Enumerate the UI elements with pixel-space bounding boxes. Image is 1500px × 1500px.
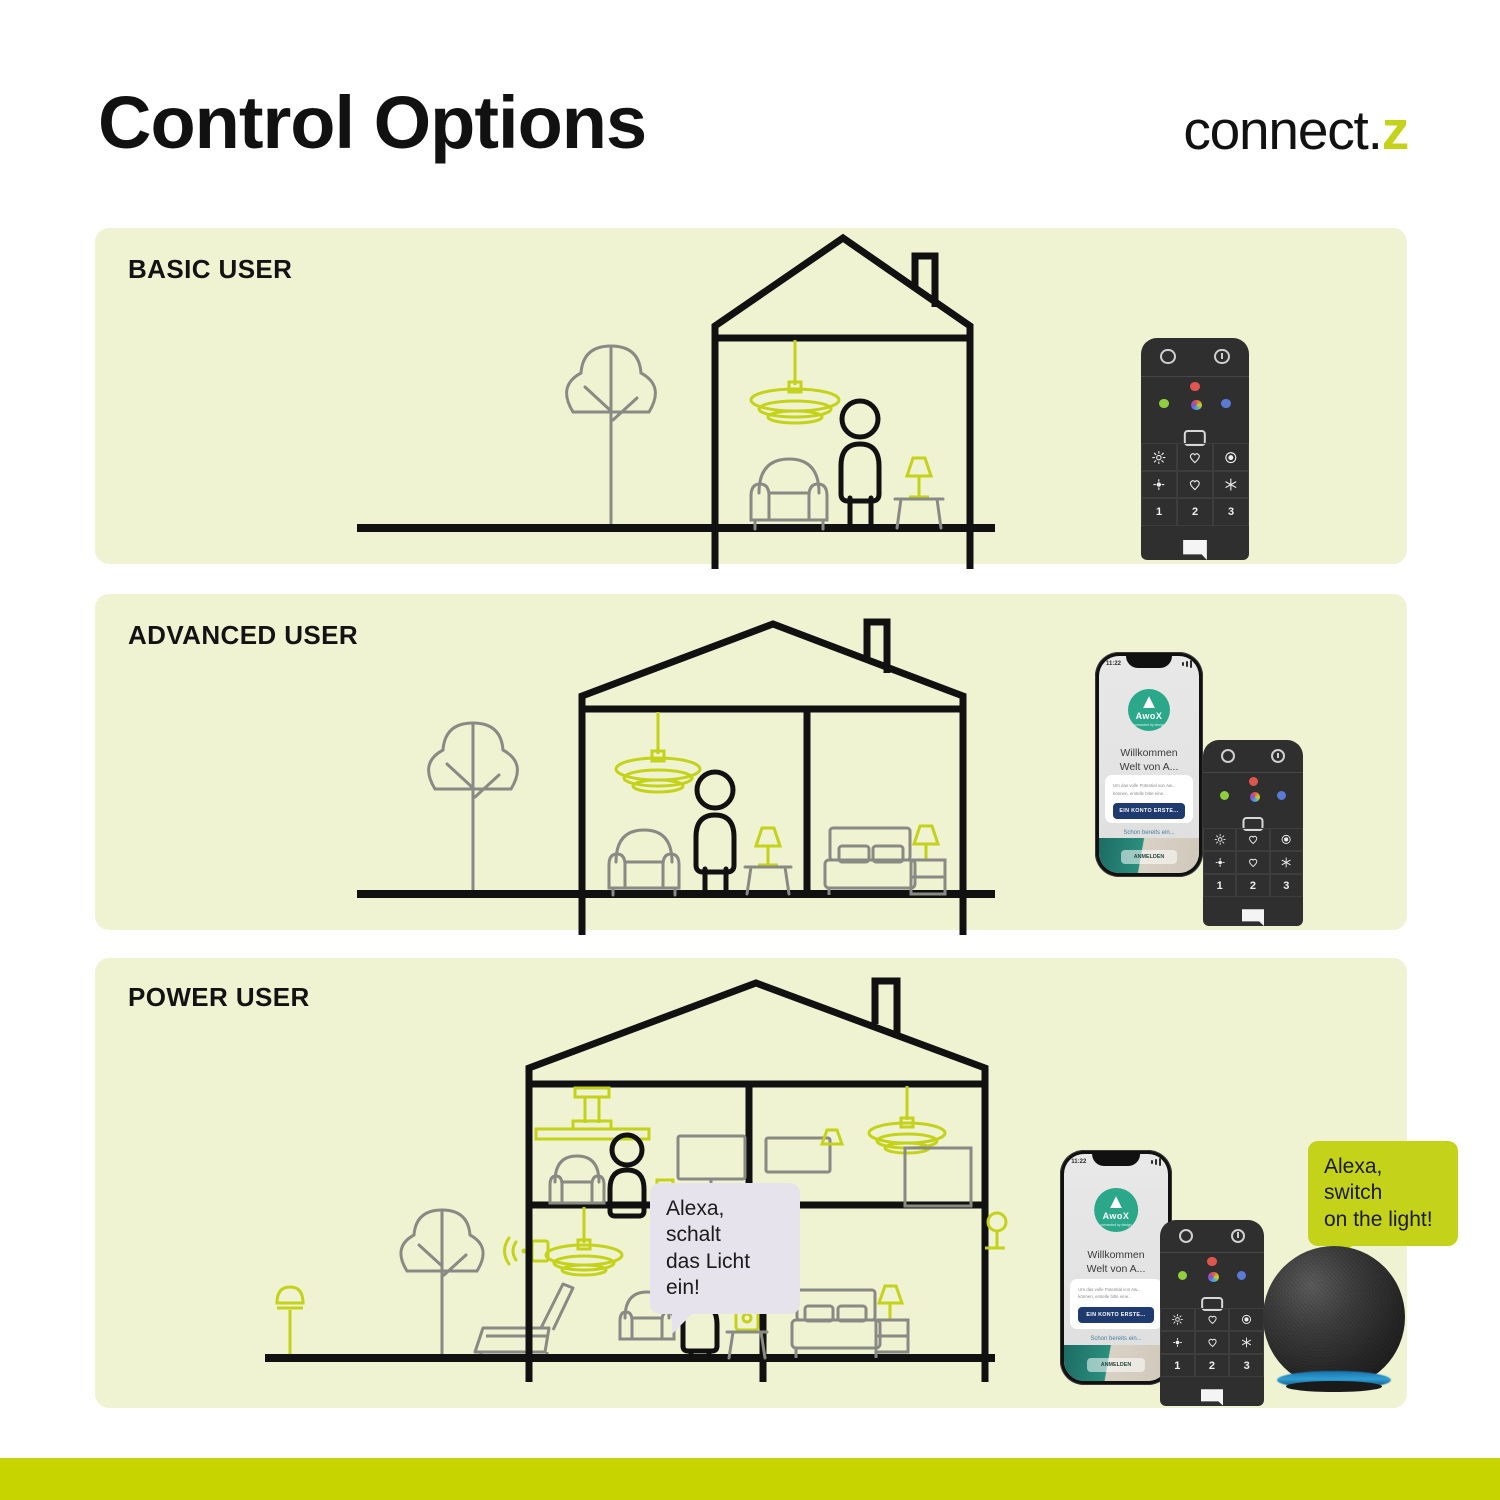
scene-2-button[interactable]: 2	[1195, 1354, 1230, 1377]
awox-logo-name: AwoX	[1103, 1211, 1130, 1221]
awox-logo: ▲ AwoX connected by design	[1128, 689, 1170, 731]
signup-card: Um das volle Potential von Aw... können,…	[1105, 775, 1193, 823]
infographic-page: Control Options connect.z BASIC USER	[0, 0, 1500, 1500]
awox-logo: ▲ AwoX connected by design	[1094, 1188, 1138, 1232]
favorite-1-icon[interactable]	[1236, 828, 1269, 851]
power-on-button[interactable]	[1231, 1229, 1246, 1244]
existing-account-link[interactable]: Schon bereits ein...	[1064, 1336, 1168, 1342]
power-on-button[interactable]	[1271, 749, 1285, 763]
create-account-button[interactable]: EIN KONTO ERSTE...	[1113, 803, 1185, 819]
bed-icon	[825, 828, 915, 895]
remote-bottom-row	[1203, 896, 1303, 926]
panel-advanced-user: ADVANCED USER	[95, 594, 1407, 930]
smartphone-app[interactable]: 11:22 ▲ AwoX connected by design Willkom…	[1060, 1150, 1172, 1385]
circle-off-button[interactable]	[1179, 1229, 1194, 1244]
side-table-icon	[895, 499, 943, 528]
bedroom-lamp-icon	[822, 1130, 842, 1144]
smartphone-app[interactable]: 11:22 ▲ AwoX connected by design Willkom…	[1095, 652, 1203, 877]
echo-fabric-texture	[1263, 1246, 1405, 1388]
status-time: 11:22	[1106, 661, 1121, 667]
armchair-icon	[751, 459, 827, 529]
awox-logo-tagline: connected by design	[1100, 1223, 1131, 1227]
phone-screen: 11:22 ▲ AwoX connected by design Willkom…	[1064, 1154, 1168, 1381]
blue-color-dot[interactable]	[1277, 791, 1286, 800]
sign-in-button[interactable]: ANMELDEN	[1121, 850, 1177, 864]
multicolor-dot[interactable]	[1207, 1271, 1219, 1283]
card-hint-2: können, erstelle bitte eine...	[1078, 1293, 1154, 1300]
panel-basic-user: BASIC USER	[95, 228, 1407, 564]
signup-card: Um das volle Potential von Aw... können,…	[1070, 1279, 1162, 1329]
remote-top-row	[1141, 338, 1249, 377]
multicolor-dot[interactable]	[1190, 399, 1203, 412]
brightness-up-icon[interactable]	[1141, 443, 1177, 470]
cool-white-icon[interactable]	[1270, 851, 1303, 874]
favorite-1-icon[interactable]	[1195, 1308, 1230, 1331]
create-account-button[interactable]: EIN KONTO ERSTE...	[1078, 1307, 1154, 1323]
status-signal-icons	[1182, 660, 1192, 668]
scene-3-button[interactable]: 3	[1229, 1354, 1264, 1377]
green-color-dot[interactable]	[1220, 791, 1229, 800]
status-signal-icons	[1151, 1158, 1161, 1166]
echo-speaker[interactable]	[1263, 1246, 1405, 1388]
favorite-2-icon[interactable]	[1177, 471, 1213, 498]
remote-color-dots	[1160, 1252, 1264, 1293]
scene-1-button[interactable]: 1	[1203, 874, 1236, 897]
favorite-2-icon[interactable]	[1195, 1331, 1230, 1354]
scene-flag-icon[interactable]	[1242, 909, 1264, 926]
bed-icon	[766, 1138, 830, 1172]
welcome-line-1: Willkommen	[1070, 1249, 1162, 1263]
side-table-icon	[745, 867, 791, 894]
footer-accent-band	[0, 1458, 1500, 1500]
bedroom-lamp-icon	[879, 1286, 902, 1320]
scene-1-button[interactable]: 1	[1141, 498, 1177, 525]
scene-flag-icon[interactable]	[1183, 540, 1207, 560]
existing-account-link[interactable]: Schon bereits ein...	[1099, 830, 1199, 836]
armchair-icon	[550, 1156, 604, 1203]
sign-in-button[interactable]: ANMELDEN	[1087, 1358, 1145, 1372]
card-hint-1: Um das volle Potential von Aw...	[1078, 1286, 1154, 1293]
scene-2-button[interactable]: 2	[1177, 498, 1213, 525]
green-color-dot[interactable]	[1159, 399, 1169, 409]
pendant-lamp-icon	[751, 340, 839, 423]
status-time: 11:22	[1071, 1159, 1086, 1165]
tree-icon	[567, 346, 656, 526]
pendant-lamp-icon	[869, 1086, 945, 1153]
table-lamp-icon	[907, 458, 931, 497]
welcome-line-2: Welt von A...	[1105, 761, 1193, 775]
speech-bubble-english: Alexa, switch on the light!	[1308, 1141, 1458, 1246]
brightness-down-icon[interactable]	[1141, 471, 1177, 498]
scene-2-button[interactable]: 2	[1236, 874, 1269, 897]
brightness-up-icon[interactable]	[1160, 1308, 1195, 1331]
red-color-dot[interactable]	[1207, 1257, 1216, 1266]
brand-logo-accent: z	[1382, 99, 1408, 161]
red-color-dot[interactable]	[1249, 777, 1258, 786]
cool-white-icon[interactable]	[1229, 1331, 1264, 1354]
phone-status-bar: 11:22	[1099, 659, 1199, 668]
ceiling-fan-icon	[536, 1088, 649, 1139]
remote-control[interactable]: 1 2 3	[1160, 1220, 1264, 1406]
page-title: Control Options	[98, 86, 646, 160]
card-hint-1: Um das volle Potential von Aw...	[1113, 782, 1185, 789]
remote-button-grid: 1 2 3	[1203, 828, 1303, 897]
phone-status-bar: 11:22	[1064, 1157, 1168, 1166]
brand-logo: connect.z	[1183, 103, 1408, 158]
remote-control[interactable]: 1 2 3	[1203, 740, 1303, 926]
remote-control[interactable]: 1 2 3	[1141, 338, 1249, 560]
remote-color-dots	[1203, 772, 1303, 813]
remote-top-row	[1160, 1220, 1264, 1253]
speech-bubble-german: Alexa, schalt das Licht ein!	[650, 1183, 800, 1314]
lounge-chair-icon	[475, 1284, 573, 1360]
bed-icon	[792, 1290, 880, 1358]
pendant-lamp-icon	[616, 712, 700, 792]
card-hint-2: können, erstelle bitte eine...	[1113, 790, 1185, 797]
panel-power-user: POWER USER	[95, 958, 1407, 1408]
green-color-dot[interactable]	[1178, 1271, 1187, 1280]
cool-white-icon[interactable]	[1213, 471, 1249, 498]
welcome-line-2: Welt von A...	[1070, 1263, 1162, 1277]
blue-color-dot[interactable]	[1237, 1271, 1246, 1280]
target-icon[interactable]	[1229, 1308, 1264, 1331]
multicolor-dot[interactable]	[1249, 791, 1261, 803]
welcome-heading: Willkommen Welt von A...	[1064, 1249, 1168, 1276]
awox-logo-name: AwoX	[1136, 711, 1163, 721]
remote-bottom-row	[1160, 1376, 1264, 1406]
garden-lamp-icon	[277, 1287, 303, 1358]
remote-bottom-row	[1141, 525, 1249, 560]
table-lamp-icon	[756, 828, 780, 865]
scene-1-button[interactable]: 1	[1160, 1354, 1195, 1377]
circle-off-button[interactable]	[1160, 349, 1175, 364]
awox-mark-icon: ▲	[1139, 693, 1159, 711]
remote-top-row	[1203, 740, 1303, 773]
wardrobe-icon	[905, 1148, 971, 1206]
brightness-down-icon[interactable]	[1160, 1331, 1195, 1354]
phone-screen: 11:22 ▲ AwoX connected by design Willkom…	[1099, 656, 1199, 873]
circle-off-button[interactable]	[1221, 749, 1235, 763]
awox-mark-icon: ▲	[1106, 1193, 1126, 1211]
remote-color-dots	[1141, 376, 1249, 425]
scene-flag-icon[interactable]	[1201, 1389, 1224, 1406]
brand-logo-text: connect.	[1183, 99, 1381, 161]
tree-icon	[429, 723, 518, 892]
person-icon	[696, 772, 734, 893]
target-icon[interactable]	[1213, 443, 1249, 470]
remote-button-grid: 1 2 3	[1141, 443, 1249, 525]
tv-icon	[678, 1136, 745, 1186]
red-color-dot[interactable]	[1190, 382, 1200, 392]
welcome-heading: Willkommen Welt von A...	[1099, 747, 1199, 774]
tree-icon	[401, 1210, 483, 1358]
scene-3-button[interactable]: 3	[1213, 498, 1249, 525]
power-on-button[interactable]	[1214, 349, 1229, 364]
remote-button-grid: 1 2 3	[1160, 1308, 1264, 1377]
favorite-1-icon[interactable]	[1177, 443, 1213, 470]
awox-logo-tagline: connected by design	[1133, 723, 1164, 727]
scene-3-button[interactable]: 3	[1270, 874, 1303, 897]
brightness-down-icon[interactable]	[1203, 851, 1236, 874]
armchair-icon	[609, 830, 679, 895]
brightness-up-icon[interactable]	[1203, 828, 1236, 851]
target-icon[interactable]	[1270, 828, 1303, 851]
person-icon	[841, 401, 879, 527]
welcome-line-1: Willkommen	[1105, 747, 1193, 761]
favorite-2-icon[interactable]	[1236, 851, 1269, 874]
blue-color-dot[interactable]	[1221, 399, 1231, 409]
bedroom-lamp-icon	[914, 826, 938, 860]
